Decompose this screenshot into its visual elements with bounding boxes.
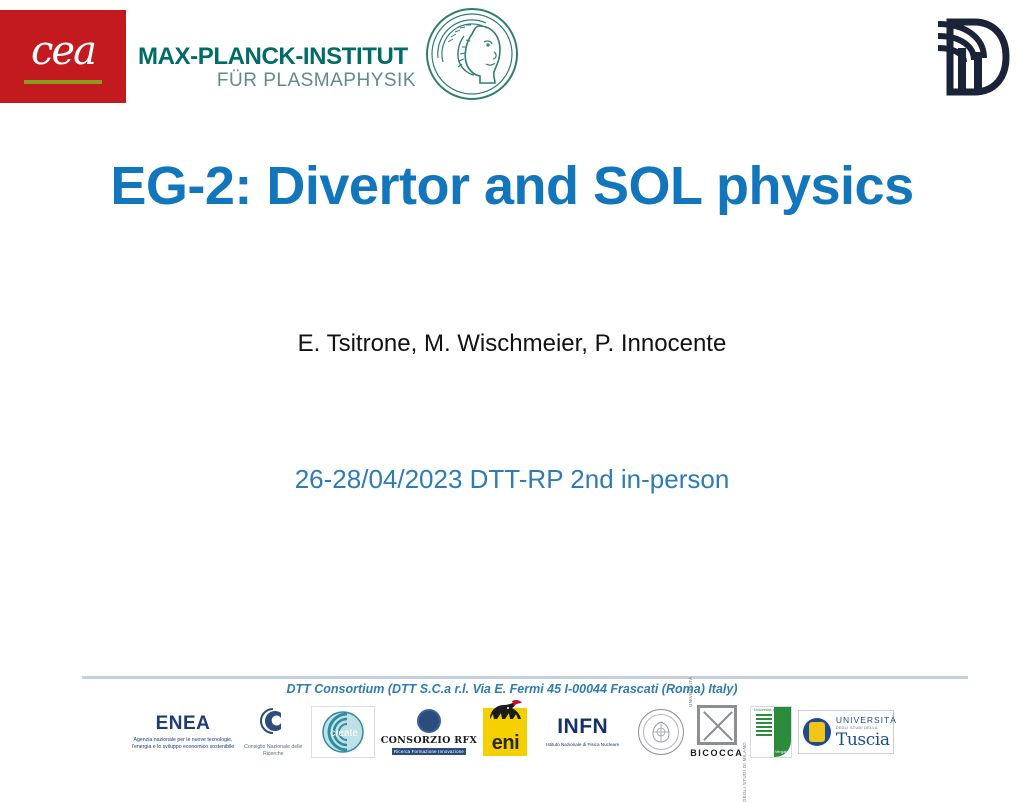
- cnr-subtitle: Consiglio Nazionale delle Ricerche: [242, 744, 304, 758]
- enea-subtitle: Agenzia nazionale per le nuove tecnologi…: [130, 737, 236, 751]
- minerva-head-icon: [424, 6, 520, 102]
- bicocca-mark-icon: [697, 705, 737, 745]
- university-seal-icon: [638, 709, 684, 755]
- rfx-wordmark: CONSORZIO RFX: [381, 735, 477, 746]
- rfx-tagline: Ricerca Formazione Innovazione: [392, 748, 466, 755]
- dtt-logo: [922, 8, 1012, 102]
- tuscia-crest-icon: [803, 718, 831, 746]
- bicocca-side-left: UNIVERSITÀ: [688, 676, 693, 707]
- infn-subtitle: Istituto Nazionale di Fisica Nucleare: [534, 741, 632, 748]
- enea-wordmark: ENEA: [156, 714, 211, 734]
- tuscia-crest-inner: [809, 722, 825, 742]
- consorzio-rfx-logo: CONSORZIO RFX Ricerca Formazione Innovaz…: [381, 703, 477, 761]
- cea-underline: [24, 80, 102, 84]
- eni-wordmark: eni: [492, 732, 519, 756]
- university-seal-logo: [638, 703, 684, 761]
- rfx-seal-icon: [417, 709, 441, 733]
- eni-logo: eni: [483, 703, 527, 761]
- cnr-logo: Consiglio Nazionale delle Ricerche: [242, 703, 304, 761]
- cea-logo: cea: [0, 10, 126, 103]
- cnr-mark-icon: [259, 707, 287, 740]
- eni-box: eni: [483, 708, 527, 756]
- tuscia-line1: UNIVERSITÀ: [836, 715, 897, 725]
- footer-logo-strip: ENEA Agenzia nazionale per le nuove tecn…: [130, 702, 894, 762]
- page-title: EG-2: Divertor and SOL physics: [62, 155, 962, 217]
- tuscia-text: UNIVERSITÀ DEGLI STUDI DELLA Tuscia: [836, 715, 897, 749]
- tor-vergata-logo: Università di Roma Tor Vergata: [750, 703, 792, 761]
- footer-address: DTT Consortium (DTT S.C.a r.l. Via E. Fe…: [62, 680, 962, 698]
- infn-logo: INFN Istituto Nazionale di Fisica Nuclea…: [534, 703, 632, 761]
- cea-wordmark: cea: [22, 30, 104, 72]
- bicocca-side-right: DEGLI STUDI DI MILANO: [742, 742, 747, 802]
- bicocca-wordmark: BICOCCA: [690, 747, 743, 759]
- tor-vergata-shield-icon: Università di Roma Tor Vergata: [750, 706, 792, 758]
- tor-vergata-bottom-text: Tor Vergata: [751, 749, 791, 755]
- tor-vergata-top-text: Università di Roma: [751, 707, 791, 713]
- create-logo: create: [311, 703, 375, 761]
- max-planck-line1: MAX-PLANCK-INSTITUT: [138, 44, 418, 70]
- svg-text:create: create: [330, 728, 358, 739]
- max-planck-wordmark: MAX-PLANCK-INSTITUT FÜR PLASMAPHYSIK: [138, 44, 418, 92]
- slide-event-date: 26-28/04/2023 DTT-RP 2nd in-person: [62, 462, 962, 496]
- enea-logo: ENEA Agenzia nazionale per le nuove tecn…: [130, 703, 236, 761]
- eni-six-legged-dog-icon: [486, 699, 526, 723]
- tuscia-box: UNIVERSITÀ DEGLI STUDI DELLA Tuscia: [798, 710, 894, 754]
- infn-wordmark: INFN: [557, 716, 608, 738]
- footer-divider: [82, 676, 968, 679]
- milano-bicocca-logo: UNIVERSITÀ DEGLI STUDI DI MILANO BICOCCA: [690, 703, 743, 761]
- max-planck-line2: FÜR PLASMAPHYSIK: [138, 70, 418, 92]
- tor-vergata-stripes: [756, 714, 772, 740]
- top-logo-bar: cea MAX-PLANCK-INSTITUT FÜR PLASMAPHYSIK: [0, 0, 1024, 112]
- slide-authors: E. Tsitrone, M. Wischmeier, P. Innocente: [62, 328, 962, 360]
- tuscia-line3: Tuscia: [836, 731, 897, 749]
- create-mark-icon: create: [311, 706, 375, 758]
- universita-tuscia-logo: UNIVERSITÀ DEGLI STUDI DELLA Tuscia: [798, 703, 894, 761]
